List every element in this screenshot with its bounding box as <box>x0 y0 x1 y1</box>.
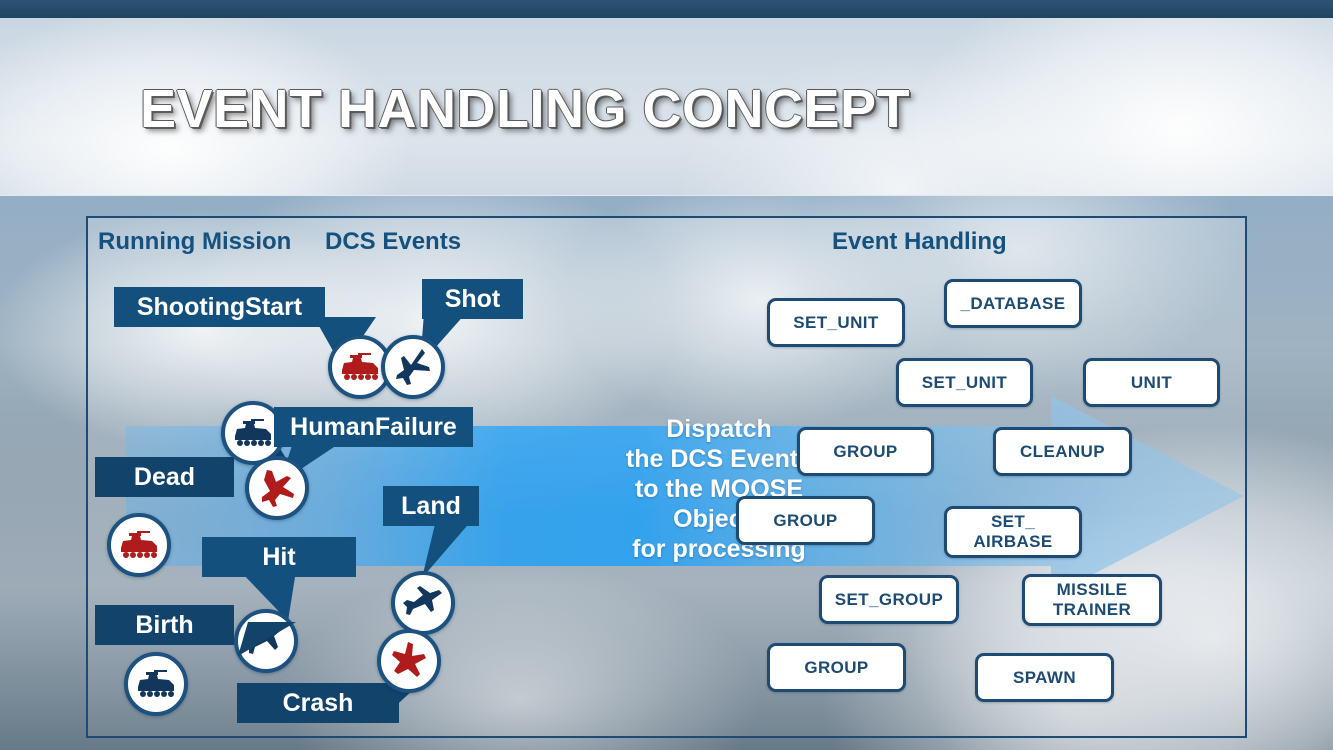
object-box-missile-trainer[interactable]: MISSILE TRAINER <box>1022 574 1162 626</box>
event-callout-humanfailure[interactable]: HumanFailure <box>274 407 473 447</box>
diagram-panel: Running Mission DCS Events Event Handlin… <box>86 216 1247 738</box>
event-callout-dead[interactable]: Dead <box>95 457 234 497</box>
object-box-label: SET_GROUP <box>835 590 943 610</box>
apc-red-hit-icon <box>107 513 171 577</box>
object-box-label: SPAWN <box>1013 668 1076 688</box>
jet-red-icon <box>245 456 309 520</box>
jet-red-crash-icon <box>377 629 441 693</box>
object-box-cleanup[interactable]: CLEANUP <box>993 427 1132 476</box>
object-box-unit[interactable]: UNIT <box>1083 358 1220 407</box>
object-box-group-2[interactable]: GROUP <box>736 496 875 545</box>
column-header-dcs-events: DCS Events <box>325 228 461 256</box>
object-box-label: _DATABASE <box>961 294 1066 314</box>
jet-navy-landing-icon <box>391 571 455 635</box>
object-box-database[interactable]: _DATABASE <box>944 279 1082 328</box>
object-box-label: GROUP <box>833 442 897 462</box>
object-box-group-1[interactable]: GROUP <box>797 427 934 476</box>
callout-tail-birth <box>238 622 300 680</box>
jet-navy-icon <box>381 335 445 399</box>
object-box-label: SET_UNIT <box>793 313 878 333</box>
object-box-group-3[interactable]: GROUP <box>767 643 906 692</box>
object-box-label: UNIT <box>1131 373 1172 393</box>
object-box-label: SET_ AIRBASE <box>973 512 1052 551</box>
object-box-label: SET_UNIT <box>922 373 1007 393</box>
event-callout-hit[interactable]: Hit <box>202 537 356 577</box>
event-callout-crash[interactable]: Crash <box>237 683 399 723</box>
event-callout-land[interactable]: Land <box>383 486 479 526</box>
event-callout-birth[interactable]: Birth <box>95 605 234 645</box>
object-box-set-unit-1[interactable]: SET_UNIT <box>767 298 905 347</box>
object-box-set-group[interactable]: SET_GROUP <box>819 575 959 624</box>
event-callout-shootingstart[interactable]: ShootingStart <box>114 287 325 327</box>
object-box-label: CLEANUP <box>1020 442 1105 462</box>
object-box-set-unit-2[interactable]: SET_UNIT <box>896 358 1033 407</box>
slide-root: EVENT HANDLING CONCEPT Running Mission D… <box>0 0 1333 750</box>
object-box-label: MISSILE TRAINER <box>1053 580 1131 619</box>
event-callout-shot[interactable]: Shot <box>422 279 523 319</box>
column-header-running-mission: Running Mission <box>98 228 291 256</box>
top-accent-strip <box>0 0 1333 18</box>
object-box-set-airbase[interactable]: SET_ AIRBASE <box>944 506 1082 558</box>
apc-navy-birth-icon <box>124 652 188 716</box>
object-box-label: GROUP <box>804 658 868 678</box>
page-title: EVENT HANDLING CONCEPT <box>140 78 910 140</box>
column-header-event-handling: Event Handling <box>832 228 1007 256</box>
object-box-label: GROUP <box>773 511 837 531</box>
object-box-spawn[interactable]: SPAWN <box>975 653 1114 702</box>
